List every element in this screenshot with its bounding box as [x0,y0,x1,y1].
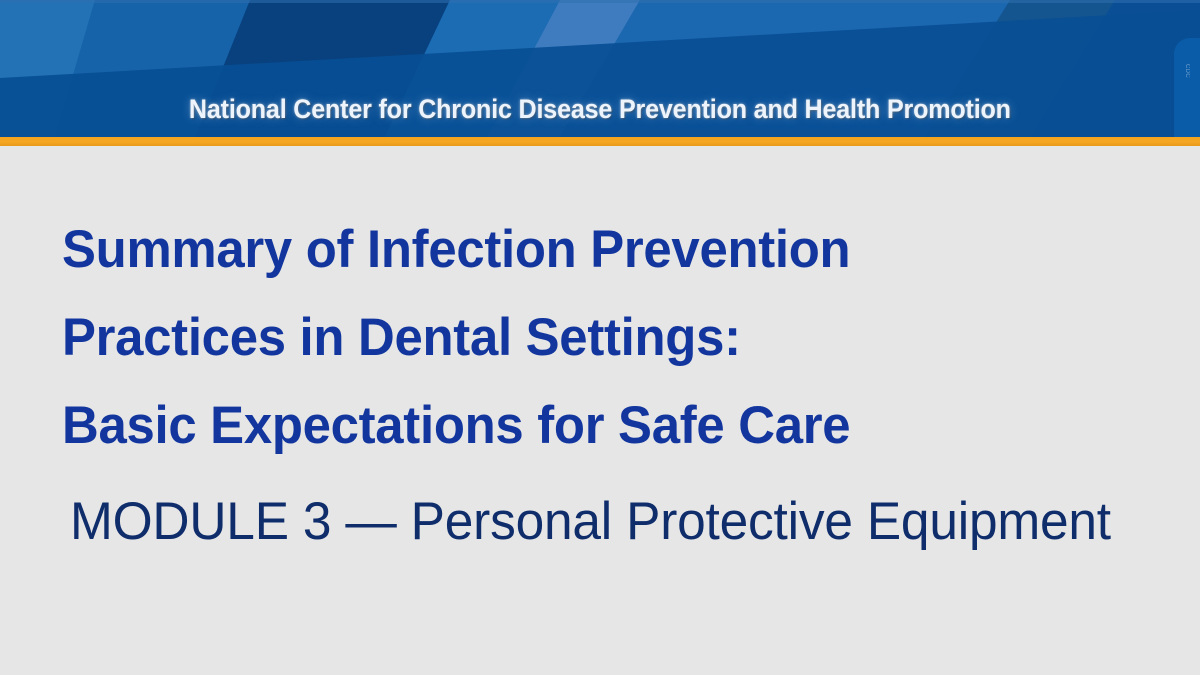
presentation-slide: CDC National Center for Chronic Disease … [0,0,1200,675]
cdc-logo-tab: CDC [1174,38,1200,137]
page-title-line-3: Basic Expectations for Safe Care [62,382,1099,470]
module-subtitle: MODULE 3 — Personal Protective Equipment [70,491,1156,553]
header-banner: CDC National Center for Chronic Disease … [0,0,1200,137]
page-title-line-1: Summary of Infection Prevention [62,206,1099,294]
cdc-logo-tab-label: CDC [1184,64,1190,78]
accent-bar [0,137,1200,146]
header-stripe-graphic [0,0,1200,137]
page-title: Summary of Infection Prevention Practice… [62,206,1142,470]
page-title-line-2: Practices in Dental Settings: [62,294,1099,382]
slide-body: Summary of Infection Prevention Practice… [0,146,1200,675]
